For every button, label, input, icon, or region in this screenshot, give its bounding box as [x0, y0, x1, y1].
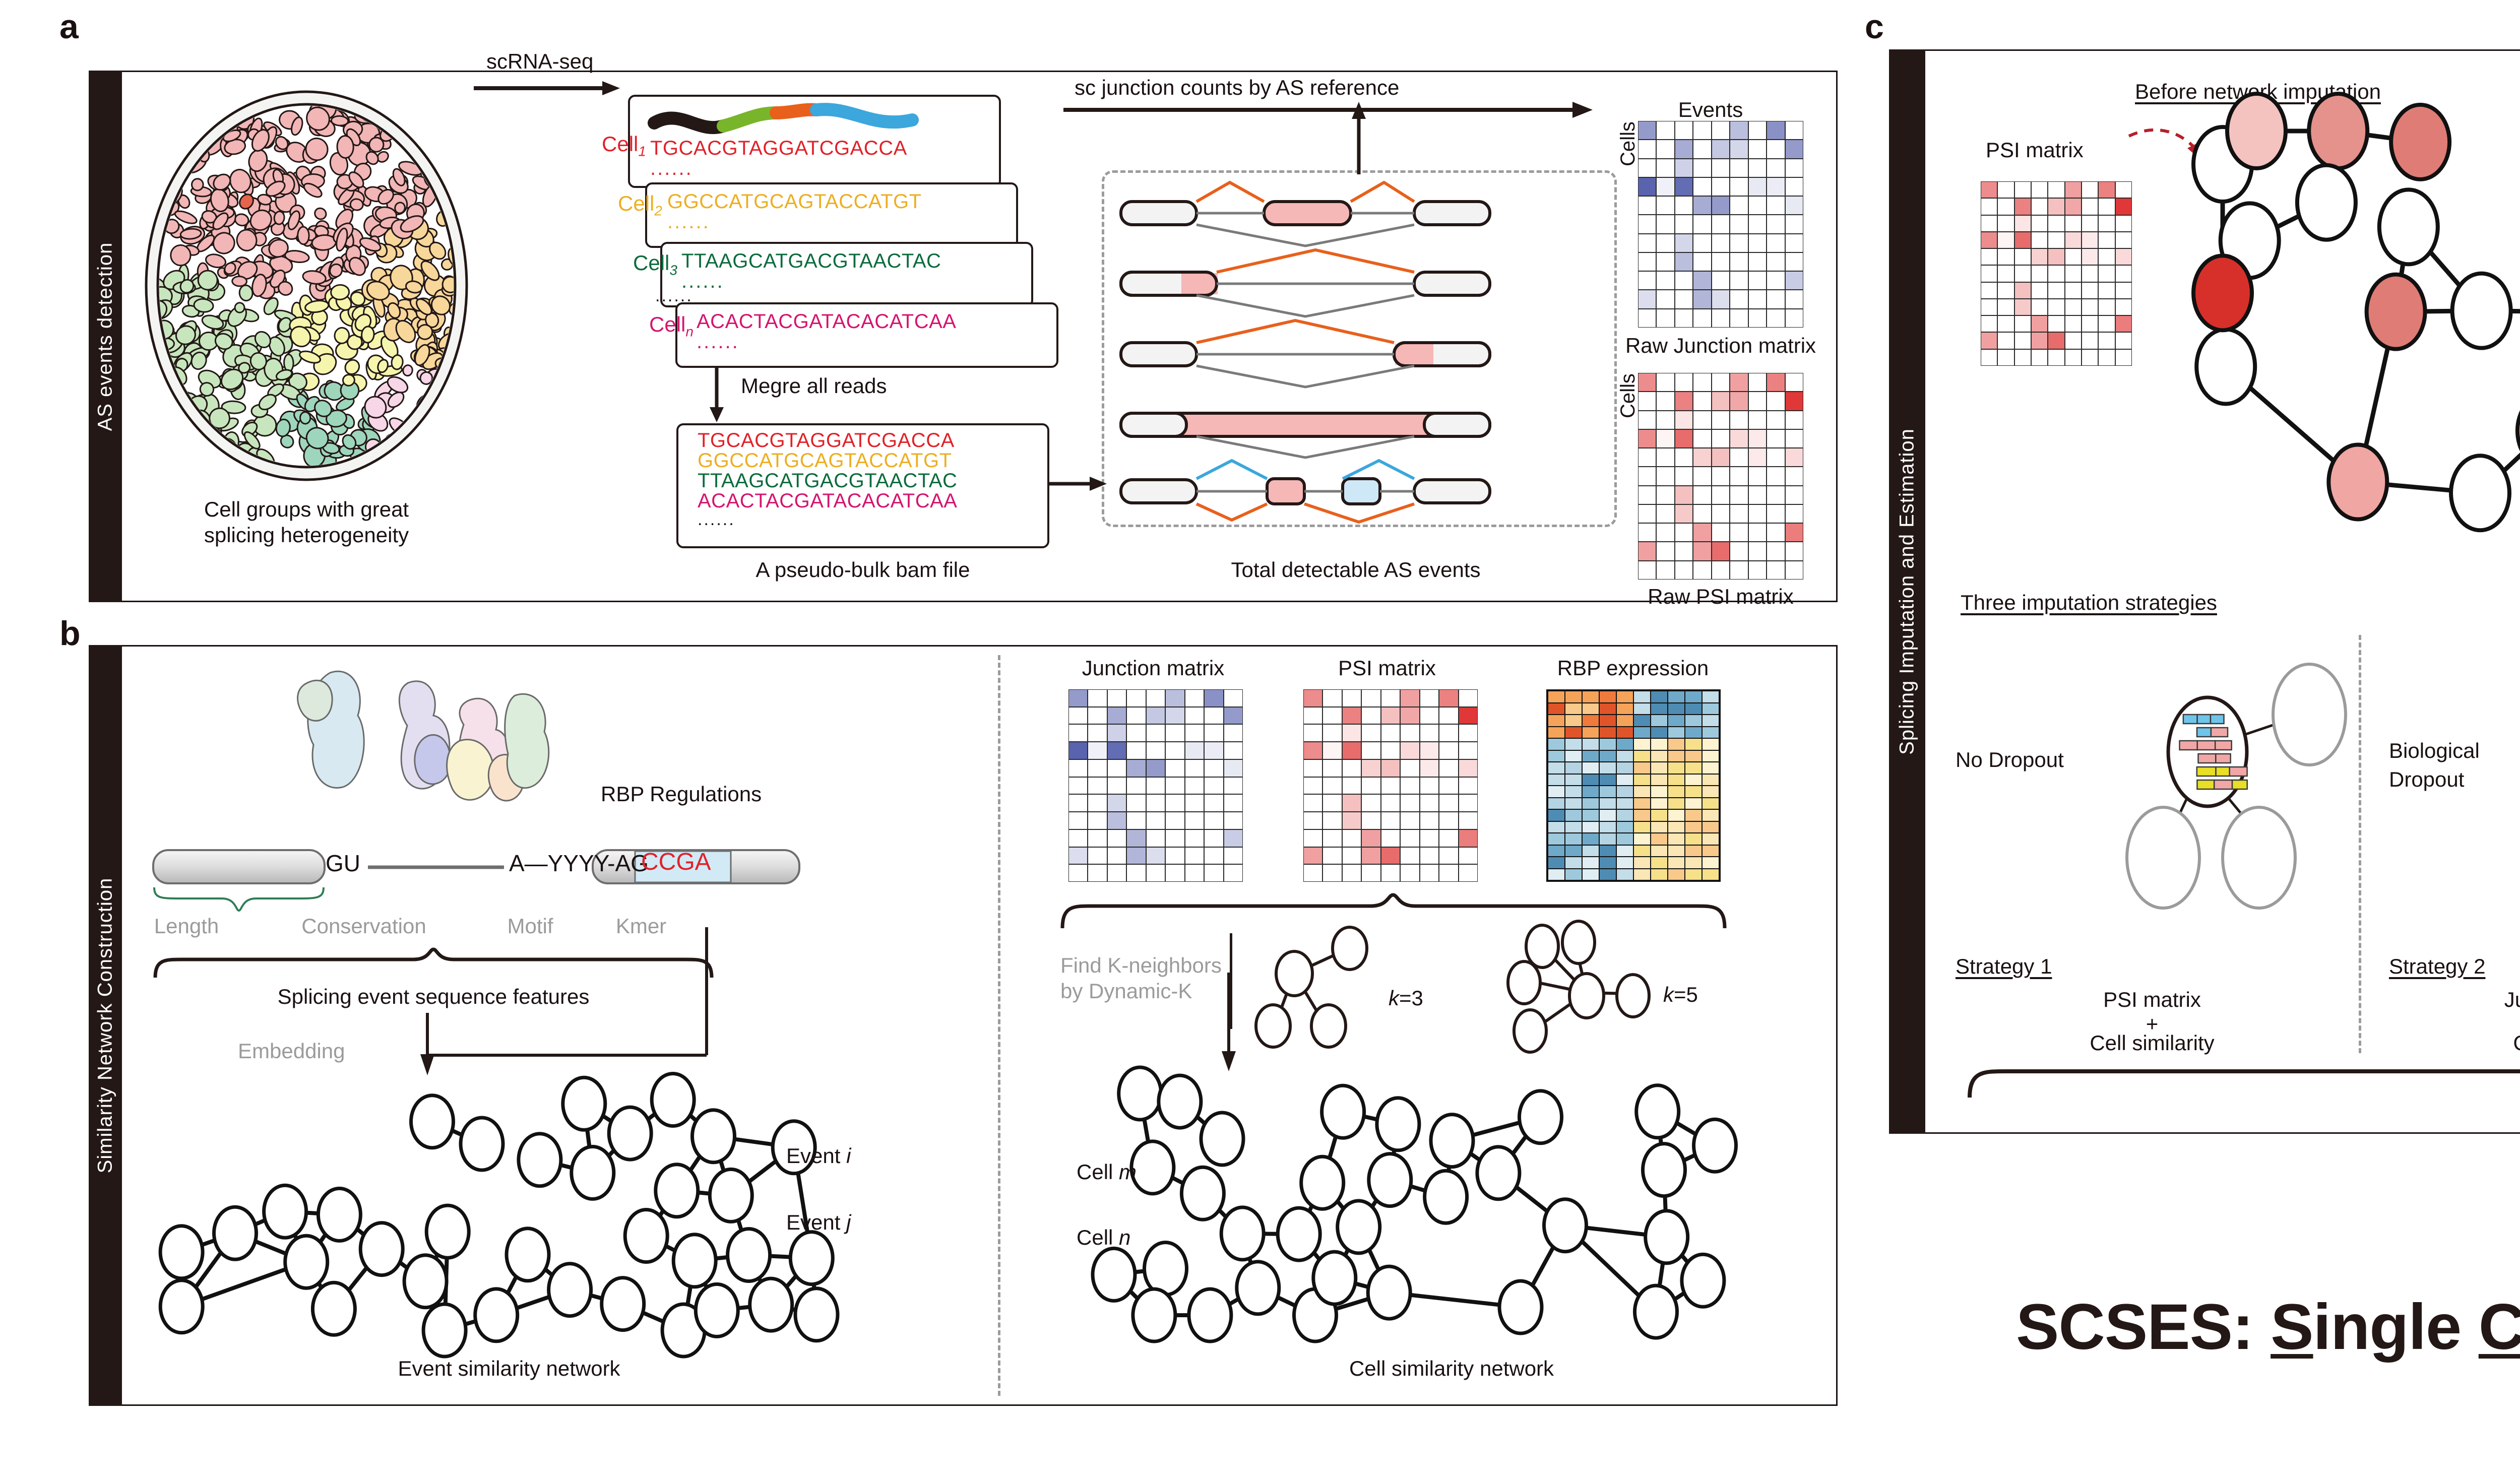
k5-graph [1492, 922, 1683, 1048]
strategy-title-1: Strategy 1 [1956, 953, 2052, 979]
psi-matrix-b [1303, 689, 1478, 882]
features-brace-icon [151, 946, 716, 982]
rbp-expression-matrix [1546, 689, 1721, 882]
raw-junction-matrix-caption: Raw Junction matrix [1625, 333, 1816, 358]
as-events-caption: Total detectable AS events [1231, 557, 1481, 583]
panel-b-divider [998, 655, 1000, 1396]
panel-letter-a: a [59, 7, 78, 46]
strategy-input-2-0: Junction matrix [2504, 987, 2520, 1012]
strategy-input-1-2: Cell similarity [2090, 1030, 2214, 1056]
sequence-kmer-label: CCGA [641, 848, 711, 877]
bam-to-events-arrow [1049, 474, 1110, 494]
feature-label-motif: Motif [507, 913, 553, 939]
cell-population-illustration [140, 87, 473, 485]
feature-label-kmer: Kmer [616, 913, 666, 939]
cell-label-1: Cell1 [602, 131, 646, 160]
strategy-cells-1 [2132, 655, 2364, 937]
cells-axis-label-psi: Cells [1617, 373, 1640, 418]
k3-label: k=3 [1389, 985, 1423, 1011]
cells-axis-label-junction: Cells [1617, 121, 1640, 166]
panel-c-sidebar: Splicing Imputation and Estimation [1889, 49, 1925, 1134]
bam-seq-2: GGCCATGCAGTACCATGT [698, 449, 952, 472]
read-seq-3: TTAAGCATGACGTAACTAC [681, 250, 941, 273]
cell-label-ellipsis: ...... [655, 286, 693, 306]
scrnaseq-arrow-icon [474, 78, 625, 98]
junction-matrix-title: Junction matrix [1082, 655, 1224, 681]
main-title-text: SCSES: Single Cell Splicing EStimation [2016, 1291, 2520, 1363]
dropout-label-2: Biological Dropout [2389, 737, 2480, 794]
panel-letter-c: c [1865, 7, 1883, 46]
dropout-label-1: No Dropout [1956, 747, 2064, 772]
find-kneighbors-label: Find K-neighbors by Dynamic-K [1060, 952, 1222, 1004]
figure-root: a AS events detection Cell groups with g… [0, 0, 2520, 1481]
psi-matrix-left-label: PSI matrix [1986, 137, 2084, 163]
strategy-title-2: Strategy 2 [2389, 953, 2485, 979]
transcript-glyph [650, 105, 968, 135]
psi-matrix-before [1981, 181, 2132, 366]
merge-label: Megre all reads [741, 373, 887, 399]
cell-label-3: Cell3 [633, 250, 677, 279]
panel-a-sidebar: AS events detection [89, 71, 122, 602]
junction-counts-label: sc junction counts by AS reference [1075, 75, 1399, 100]
raw-psi-matrix [1638, 373, 1803, 579]
network-before-imputation [2182, 91, 2520, 585]
main-title: SCSES: Single Cell Splicing EStimation [2016, 1290, 2520, 1364]
panel-letter-b: b [59, 614, 80, 653]
panel-c-sidebar-label: Splicing Imputation and Estimation [1896, 428, 1919, 755]
junction-matrix-b [1068, 689, 1243, 882]
read-dots-1: ...... [650, 157, 693, 180]
bam-seq-4: ACACTACGATACACATCAA [698, 490, 957, 512]
event-i-label: Event i [786, 1143, 851, 1169]
bam-caption: A pseudo-bulk bam file [756, 557, 970, 583]
k5-label: k=5 [1663, 982, 1698, 1007]
read-dots-2: ...... [667, 211, 710, 233]
raw-psi-matrix-caption: Raw PSI matrix [1648, 584, 1793, 609]
cell-n-label: Cell n [1077, 1225, 1130, 1250]
bam-seq-3: TTAAGCATGACGTAACTAC [698, 470, 957, 492]
panel-b-sidebar: Similarity Network Construction [89, 645, 122, 1406]
strategy-input-2-2: Cell similarity [2513, 1030, 2520, 1056]
embedding-label: Embedding [238, 1038, 345, 1064]
panel-b-sidebar-label: Similarity Network Construction [94, 878, 117, 1174]
bam-seq-1: TGCACGTAGGATCGACCA [698, 429, 955, 452]
cell-similarity-network [1084, 1063, 1814, 1356]
strategy-input-1-0: PSI matrix [2103, 987, 2201, 1012]
cell-label-n: Celln [649, 311, 694, 341]
read-dots-4: ...... [697, 331, 739, 353]
cell-m-label: Cell m [1077, 1159, 1137, 1185]
read-seq-2: GGCCATGCAGTACCATGT [667, 190, 922, 213]
read-seq-4: ACACTACGATACACATCAA [697, 310, 956, 333]
sequence-features-caption: Splicing event sequence features [278, 984, 590, 1009]
cell-label-2: Cell2 [618, 190, 662, 220]
raw-junction-matrix [1638, 121, 1803, 328]
panel-a-cells-caption: Cell groups with great splicing heteroge… [204, 496, 409, 548]
psi-matrix-title: PSI matrix [1338, 655, 1436, 681]
cell-network-caption: Cell similarity network [1349, 1356, 1554, 1381]
as-event-diagrams [1107, 175, 1612, 523]
scrnaseq-arrow-label: scRNA-seq [486, 48, 593, 74]
to-cell-network-arrow [1215, 973, 1245, 1073]
feature-label-length: Length [154, 913, 219, 939]
feature-label-conservation: Conservation [301, 913, 426, 939]
bam-dots: ...... [698, 510, 735, 530]
merge-arrow-icon [706, 368, 736, 423]
read-seq-1: TGCACGTAGGATCGACCA [650, 137, 907, 160]
length-brace-icon [151, 884, 333, 915]
panel-a-sidebar-label: AS events detection [94, 242, 117, 431]
sequence-gu-label: GU [326, 849, 360, 877]
event-network-caption: Event similarity network [398, 1356, 620, 1381]
junction-counts-arrow [1063, 100, 1598, 120]
rbp-expression-title: RBP expression [1557, 655, 1709, 681]
event-j-label: Event j [786, 1209, 851, 1235]
integration-brace-icon [1966, 1053, 2520, 1100]
sequence-branch-label: A—YYYY-AG [509, 849, 649, 877]
strategies-title: Three imputation strategies [1961, 590, 2217, 615]
rbp-regulations-label: RBP Regulations [601, 781, 762, 807]
events-axis-label: Events [1678, 97, 1743, 122]
